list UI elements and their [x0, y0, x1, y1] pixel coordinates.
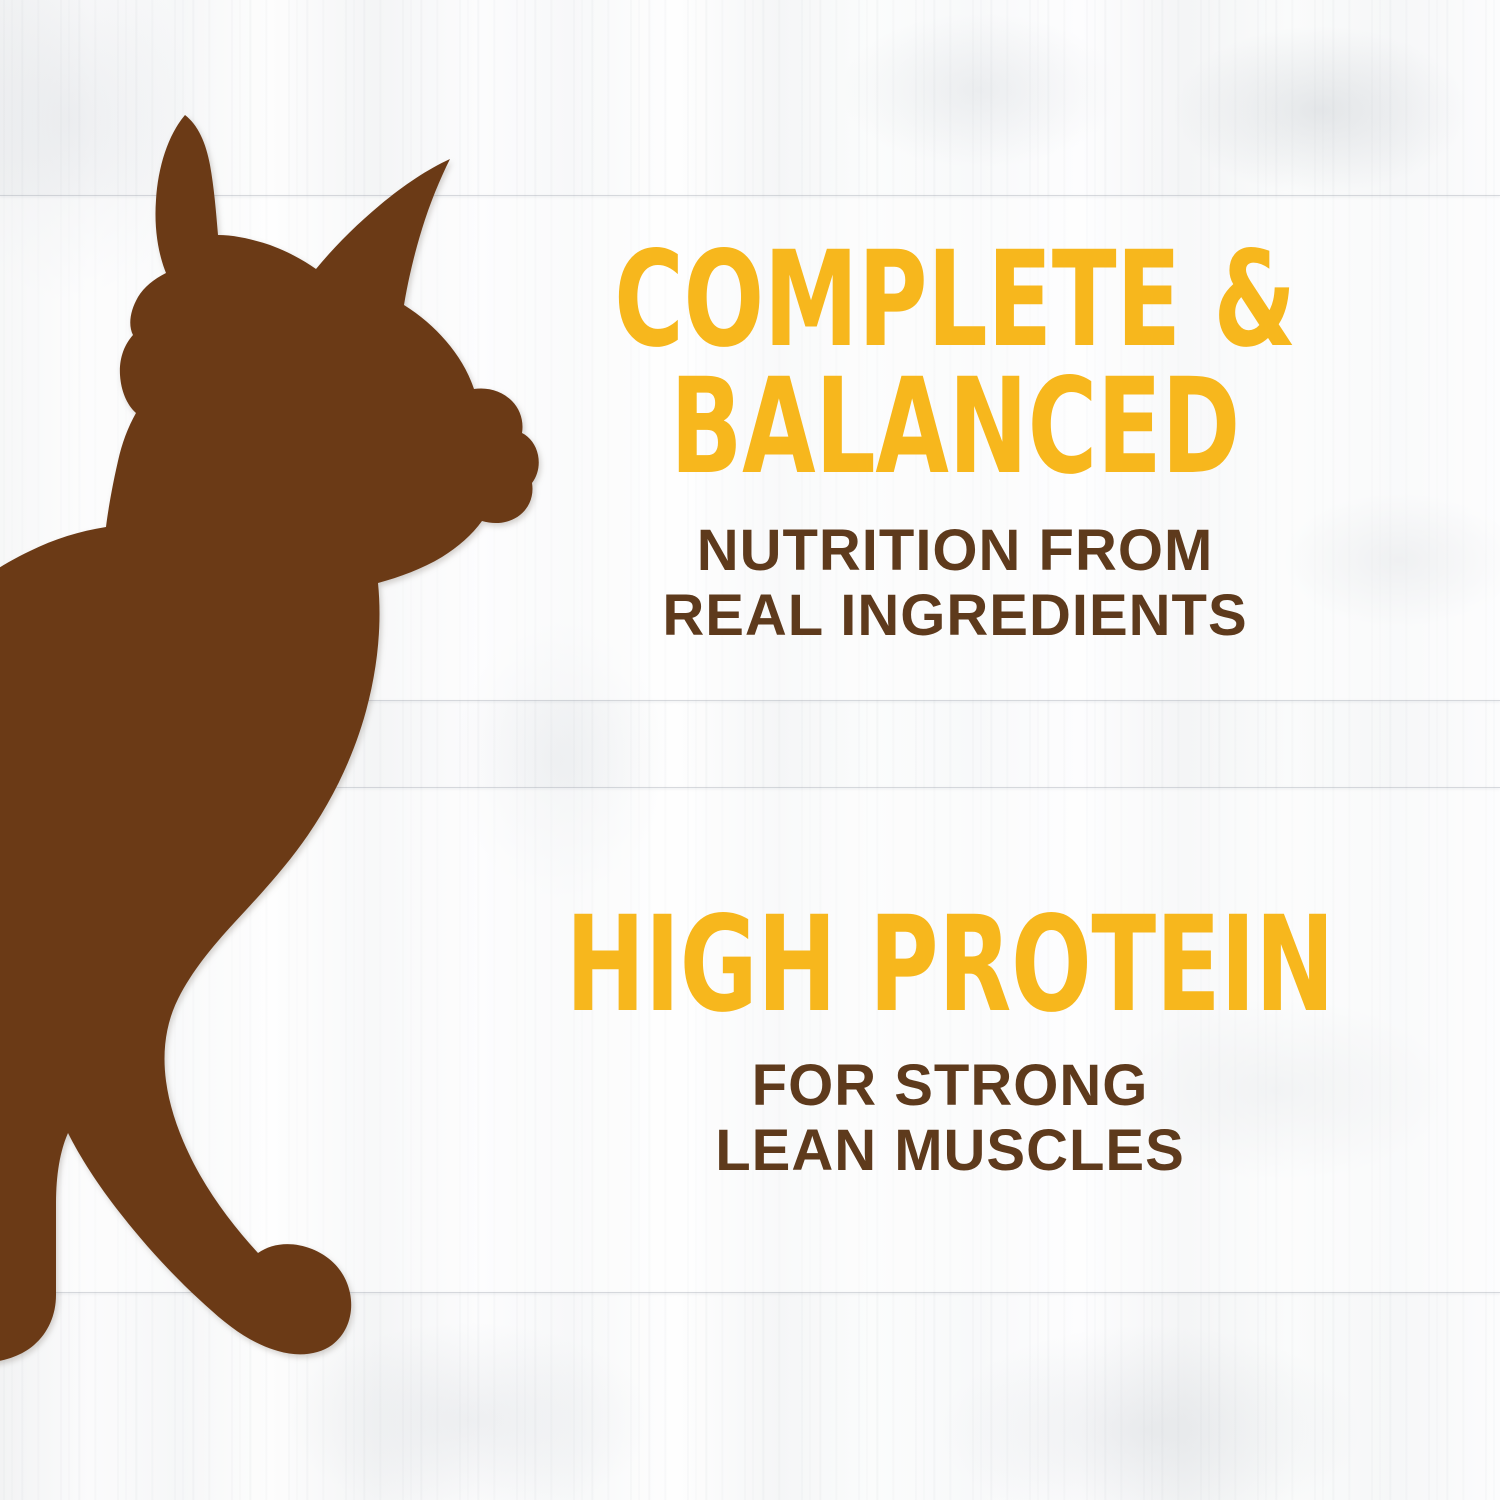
subline-line-2: LEAN MUSCLES [715, 1118, 1185, 1183]
headline-line-2: BALANCED [551, 367, 1359, 488]
headline-complete-balanced: COMPLETE & BALANCED [551, 240, 1359, 489]
benefit-block-high-protein: HIGH PROTEIN FOR STRONG LEAN MUSCLES [420, 905, 1480, 1184]
headline-high-protein: HIGH PROTEIN [526, 905, 1374, 1026]
subline-complete-balanced: NUTRITION FROM REAL INGREDIENTS [450, 519, 1460, 649]
headline-line-1: COMPLETE & [551, 240, 1359, 361]
subline-line-2: REAL INGREDIENTS [662, 583, 1247, 648]
headline-line-1: HIGH PROTEIN [566, 888, 1335, 1042]
subline-line-1: NUTRITION FROM [697, 518, 1214, 583]
benefit-block-complete-balanced: COMPLETE & BALANCED NUTRITION FROM REAL … [450, 240, 1460, 649]
feature-panel: COMPLETE & BALANCED NUTRITION FROM REAL … [0, 0, 1500, 1500]
subline-high-protein: FOR STRONG LEAN MUSCLES [420, 1054, 1480, 1184]
subline-line-1: FOR STRONG [752, 1053, 1149, 1118]
